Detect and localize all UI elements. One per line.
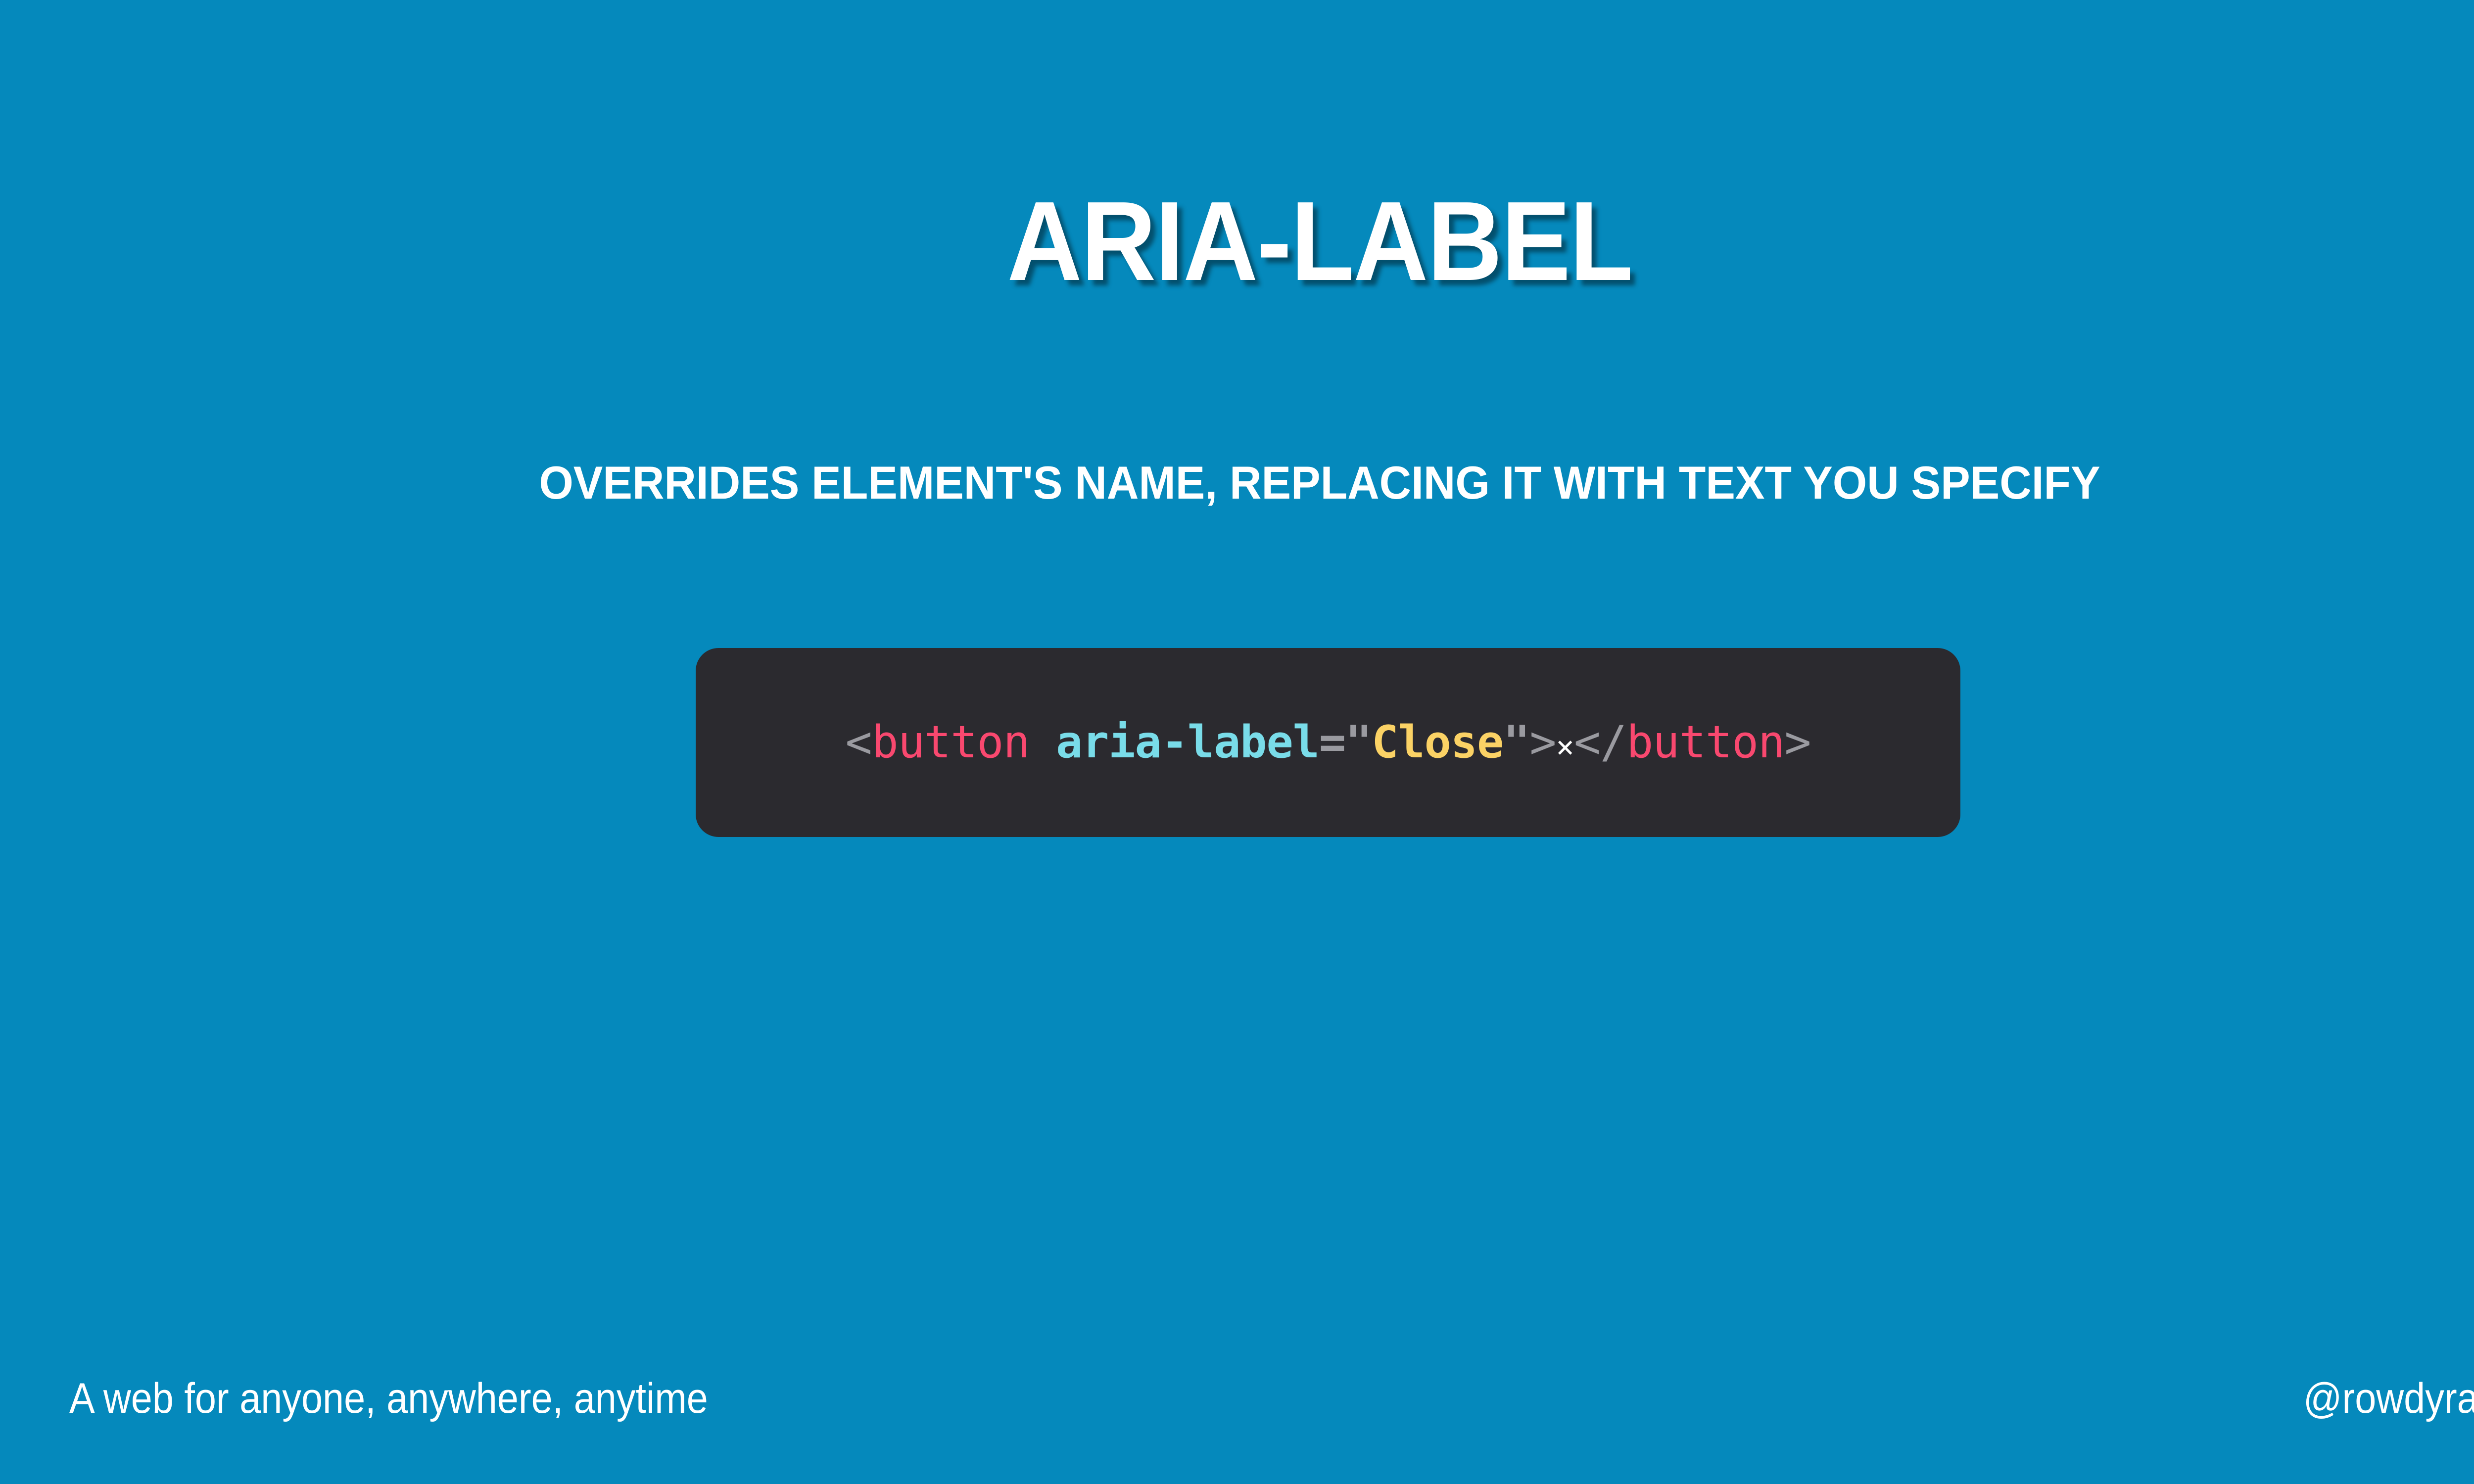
code-token-content-glyph: × — [1556, 729, 1574, 765]
code-token-equals: = — [1319, 716, 1345, 768]
code-snippet-card: <button aria-label="Close">×</button> — [696, 648, 1960, 837]
code-token-close-tag-start: </ — [1574, 716, 1626, 768]
code-snippet-line: <button aria-label="Close">×</button> — [845, 720, 1810, 765]
code-token-attribute-value: Close — [1372, 716, 1503, 768]
code-token-space — [1030, 716, 1056, 768]
code-token-tag-open: button — [872, 716, 1030, 768]
code-token-quote-open: " — [1345, 716, 1372, 768]
code-token-close-angle: > — [1529, 716, 1556, 768]
code-token-final-angle: > — [1784, 716, 1810, 768]
code-token-quote-close: " — [1503, 716, 1529, 768]
slide-title: ARIA-LABEL — [105, 181, 2474, 302]
code-token-open-angle: < — [845, 716, 871, 768]
footer-handle: @rowdyrabouw — [2303, 1377, 2474, 1420]
code-token-attribute-name: aria-label — [1056, 716, 1319, 768]
code-token-tag-close: button — [1626, 716, 1784, 768]
slide-subtitle: OVERRIDES ELEMENT'S NAME, REPLACING IT W… — [66, 457, 2474, 509]
slide-canvas: ARIA-LABEL OVERRIDES ELEMENT'S NAME, REP… — [0, 0, 2474, 1484]
footer-tagline: A web for anyone, anywhere, anytime — [69, 1377, 708, 1420]
